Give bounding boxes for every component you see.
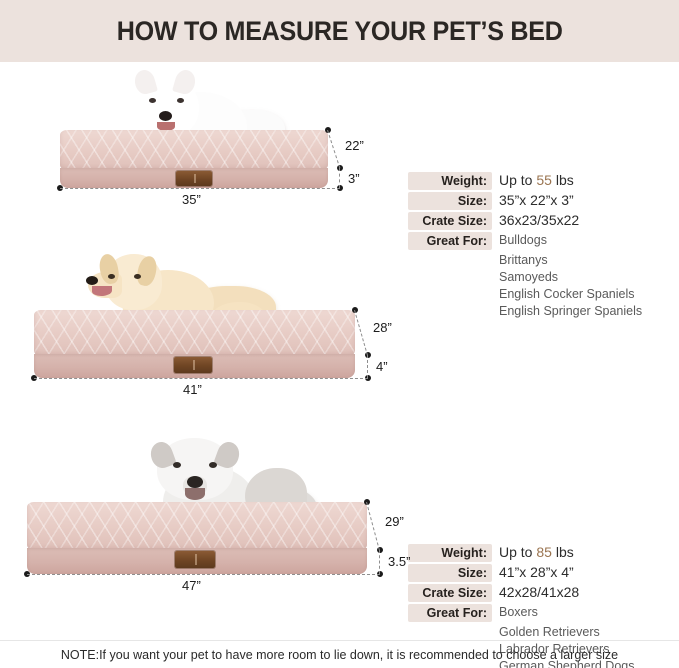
product-row-large: 29” 3.5” 47” Weight: Up to 110 lbs Size:…	[0, 432, 679, 634]
brand-tag	[174, 357, 212, 373]
footer-note: NOTE:If you want your pet to have more r…	[0, 648, 679, 662]
callout-label-depth: 22”	[345, 138, 364, 153]
callout-line-depth	[354, 310, 368, 355]
bed-illustration-large: 29” 3.5” 47”	[0, 432, 400, 634]
bed-body-large	[27, 502, 367, 574]
footer-divider	[0, 640, 679, 641]
callout-label-depth: 29”	[385, 514, 404, 529]
spec-value-crate-size: 36x23/35x22	[492, 212, 579, 229]
weight-unit: lbs	[556, 172, 574, 188]
spec-row-great-for: Great For: Bulldogs	[408, 232, 676, 250]
bed-body-small	[60, 130, 328, 188]
callout-line-height	[379, 550, 380, 574]
product-row-medium: 28” 4” 41” Weight: Up to 85 lbs Size: 41…	[0, 250, 679, 432]
callout-line-height	[367, 355, 368, 378]
spec-value-size: 35”x 22”x 3”	[492, 192, 574, 209]
callout-line-depth	[327, 130, 340, 168]
callout-label-width: 41”	[183, 382, 202, 397]
spec-label-weight: Weight:	[408, 172, 492, 190]
brand-tag	[175, 551, 215, 568]
infographic-page: HOW TO MEASURE YOUR PET’S BED	[0, 0, 679, 668]
brand-tag	[176, 171, 212, 186]
weight-prefix: Up to	[499, 172, 532, 188]
callout-label-height: 3.5”	[388, 554, 410, 569]
bed-top-surface	[34, 310, 355, 356]
callout-line-width	[60, 188, 340, 189]
callout-line-width	[27, 574, 380, 575]
spec-row-weight: Weight: Up to 55 lbs	[408, 172, 676, 190]
product-row-small: 22” 3” 35” Weight: Up to 55 lbs Size: 35…	[0, 68, 679, 248]
callout-label-height: 4”	[376, 359, 388, 374]
callout-label-height: 3”	[348, 171, 360, 186]
spec-label-size: Size:	[408, 192, 492, 210]
bed-illustration-small: 22” 3” 35”	[0, 68, 400, 248]
callout-label-width: 35”	[182, 192, 201, 207]
spec-row-crate-size: Crate Size: 36x23/35x22	[408, 212, 676, 230]
page-title: HOW TO MEASURE YOUR PET’S BED	[117, 16, 563, 47]
bed-illustration-medium: 28” 4” 41”	[0, 250, 400, 432]
callout-line-width	[34, 378, 368, 379]
bed-top-surface	[27, 502, 367, 550]
callout-line-depth	[366, 502, 380, 551]
callout-label-depth: 28”	[373, 320, 392, 335]
callout-line-height	[339, 168, 340, 188]
weight-value: 55	[536, 172, 552, 188]
spec-label-great-for: Great For:	[408, 232, 492, 250]
spec-label-crate-size: Crate Size:	[408, 212, 492, 230]
spec-value-weight: Up to 55 lbs	[492, 172, 574, 189]
header-band: HOW TO MEASURE YOUR PET’S BED	[0, 0, 679, 62]
bed-top-surface	[60, 130, 328, 170]
callout-label-width: 47”	[182, 578, 201, 593]
spec-row-size: Size: 35”x 22”x 3”	[408, 192, 676, 210]
bed-body-medium	[34, 310, 355, 378]
spec-value-breed-first: Bulldogs	[492, 232, 547, 249]
